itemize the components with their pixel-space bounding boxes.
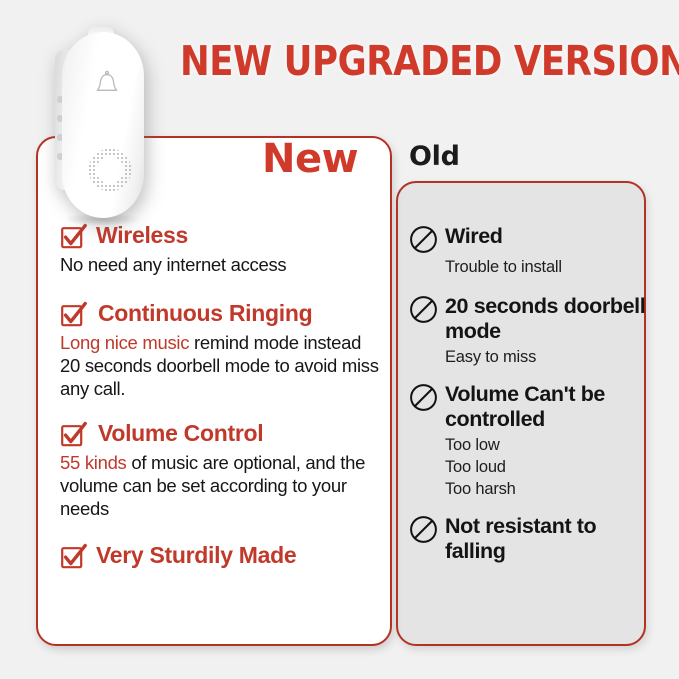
product-image-wireless-doorbell <box>52 20 150 220</box>
old-item-title: Not resistant to falling <box>445 514 649 564</box>
new-feature-list: Wireless No need any internet access Con… <box>60 222 380 588</box>
new-list-item: Continuous Ringing Long nice music remin… <box>60 300 380 400</box>
column-heading-old: Old <box>409 141 460 173</box>
old-list-item: Wired Trouble to install <box>409 224 649 278</box>
old-item-subtext: Easy to miss <box>445 347 649 368</box>
column-heading-new: New <box>262 136 358 182</box>
old-item-title: Volume Can't be controlled <box>445 382 649 432</box>
checkbox-checked-icon <box>60 421 87 448</box>
old-item-subtext: Too loud <box>445 457 649 478</box>
new-item-title: Wireless <box>96 222 188 249</box>
old-item-subtext: Trouble to install <box>445 257 649 278</box>
old-item-title: Wired <box>445 224 503 249</box>
banner: NEW UPGRADED VERSION <box>180 36 672 86</box>
speaker-grille <box>80 140 140 200</box>
new-item-description-highlight: Long nice music <box>60 332 189 353</box>
new-item-title: Very Sturdily Made <box>96 542 296 569</box>
new-item-description-text: No need any internet access <box>60 254 286 275</box>
new-item-description-highlight: 55 kinds <box>60 452 127 473</box>
old-item-title: 20 seconds doorbell mode <box>445 294 649 344</box>
checkbox-checked-icon <box>60 543 87 570</box>
prohibition-icon <box>409 383 438 412</box>
new-item-description: Long nice music remind mode instead 20 s… <box>60 331 380 400</box>
banner-title: NEW UPGRADED VERSION <box>180 39 679 83</box>
checkbox-checked-icon <box>60 223 87 250</box>
bell-icon <box>93 70 121 100</box>
new-item-title: Volume Control <box>98 420 263 447</box>
new-list-item: Volume Control 55 kinds of music are opt… <box>60 420 380 520</box>
prohibition-icon <box>409 515 438 544</box>
prohibition-icon <box>409 225 438 254</box>
old-item-subtext: Too harsh <box>445 479 649 500</box>
old-feature-list: Wired Trouble to install 20 seconds door… <box>409 224 649 576</box>
new-item-description: 55 kinds of music are optional, and the … <box>60 451 380 520</box>
new-list-item: Wireless No need any internet access <box>60 222 380 276</box>
prohibition-icon <box>409 295 438 324</box>
old-item-subtext: Too low <box>445 435 649 456</box>
checkbox-checked-icon <box>60 301 87 328</box>
old-list-item: Not resistant to falling <box>409 514 649 564</box>
new-item-description: No need any internet access <box>60 253 380 276</box>
old-list-item: Volume Can't be controlled Too low Too l… <box>409 382 649 500</box>
infographic-stage: NEW UPGRADED VERSION New Old <box>0 0 679 679</box>
old-list-item: 20 seconds doorbell mode Easy to miss <box>409 294 649 368</box>
new-item-title: Continuous Ringing <box>98 300 312 327</box>
new-list-item: Very Sturdily Made <box>60 542 380 570</box>
